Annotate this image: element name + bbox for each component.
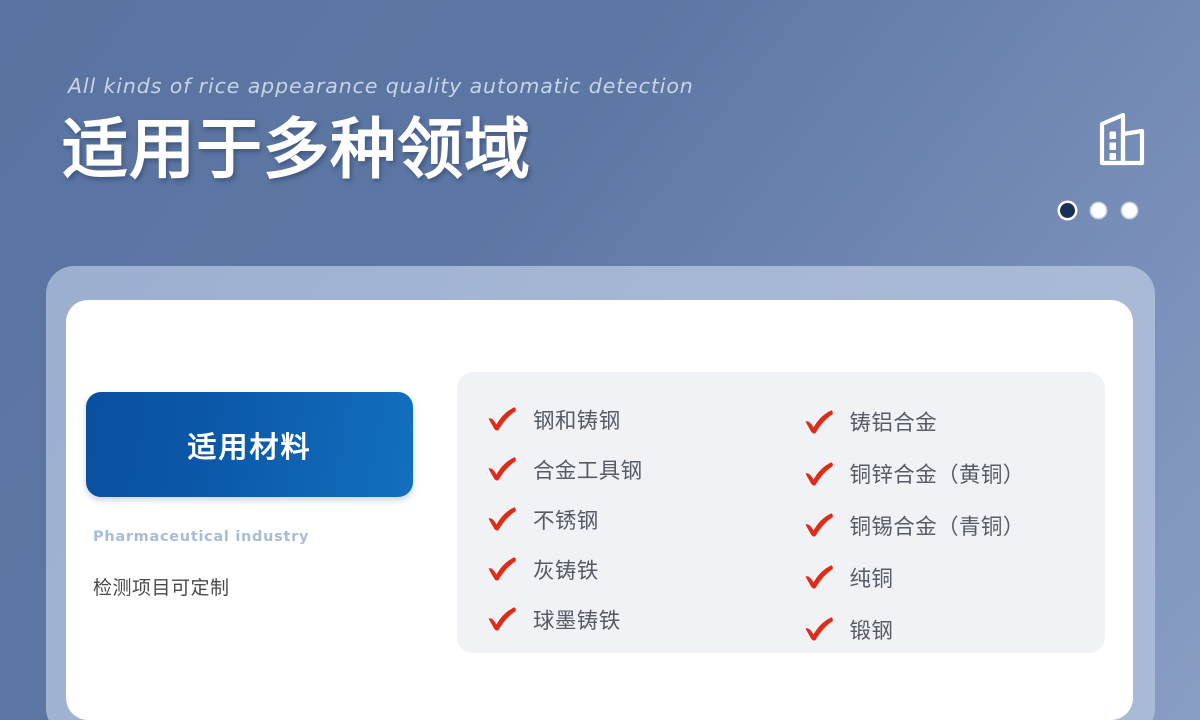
industry-label: Pharmaceutical industry: [93, 529, 416, 545]
check-icon: [487, 556, 517, 582]
materials-column-right: 铸铝合金 铜锌合金（黄铜） 铜锡合金（青铜） 纯铜: [789, 372, 1106, 653]
check-icon: [487, 506, 517, 532]
list-item: 钢和铸钢: [487, 394, 789, 444]
applicable-material-button[interactable]: 适用材料: [86, 392, 413, 497]
material-label: 球墨铸铁: [533, 604, 621, 635]
material-label: 铸铝合金: [850, 406, 938, 437]
check-icon: [804, 461, 834, 487]
list-item: 球墨铸铁: [487, 594, 789, 644]
material-label: 不锈钢: [533, 504, 599, 535]
pagination-dot-1[interactable]: [1060, 203, 1075, 218]
check-icon: [487, 406, 517, 432]
materials-panel: 钢和铸钢 合金工具钢 不锈钢 灰铸铁: [457, 372, 1105, 653]
material-label: 合金工具钢: [533, 454, 643, 485]
list-item: 铸铝合金: [804, 398, 1106, 446]
material-label: 纯铜: [850, 562, 894, 593]
building-icon: [1090, 108, 1152, 170]
material-label: 锻钢: [850, 614, 894, 645]
list-item: 灰铸铁: [487, 544, 789, 594]
check-icon: [804, 616, 834, 642]
check-icon: [804, 409, 834, 435]
material-label: 钢和铸钢: [533, 404, 621, 435]
check-icon: [487, 456, 517, 482]
pagination-dot-2[interactable]: [1091, 203, 1106, 218]
page-title: 适用于多种领域: [62, 116, 531, 182]
list-item: 铜锌合金（黄铜）: [804, 450, 1106, 498]
material-label: 铜锡合金（青铜）: [850, 510, 1025, 541]
list-item: 纯铜: [804, 553, 1106, 601]
pagination-dots[interactable]: [1060, 203, 1137, 218]
list-item: 铜锡合金（青铜）: [804, 502, 1106, 550]
list-item: 不锈钢: [487, 494, 789, 544]
check-icon: [487, 606, 517, 632]
list-item: 锻钢: [804, 605, 1106, 653]
slide-header: All kinds of rice appearance quality aut…: [0, 0, 1200, 255]
check-icon: [804, 512, 834, 538]
materials-column-left: 钢和铸钢 合金工具钢 不锈钢 灰铸铁: [457, 372, 789, 653]
check-icon: [804, 564, 834, 590]
customizable-note: 检测项目可定制: [93, 573, 416, 600]
material-label: 铜锌合金（黄铜）: [850, 458, 1025, 489]
header-subtitle: All kinds of rice appearance quality aut…: [68, 74, 694, 98]
material-label: 灰铸铁: [533, 554, 599, 585]
pagination-dot-3[interactable]: [1122, 203, 1137, 218]
slide-canvas: All kinds of rice appearance quality aut…: [0, 0, 1200, 720]
list-item: 合金工具钢: [487, 444, 789, 494]
left-column: 适用材料 Pharmaceutical industry 检测项目可定制: [86, 392, 416, 600]
